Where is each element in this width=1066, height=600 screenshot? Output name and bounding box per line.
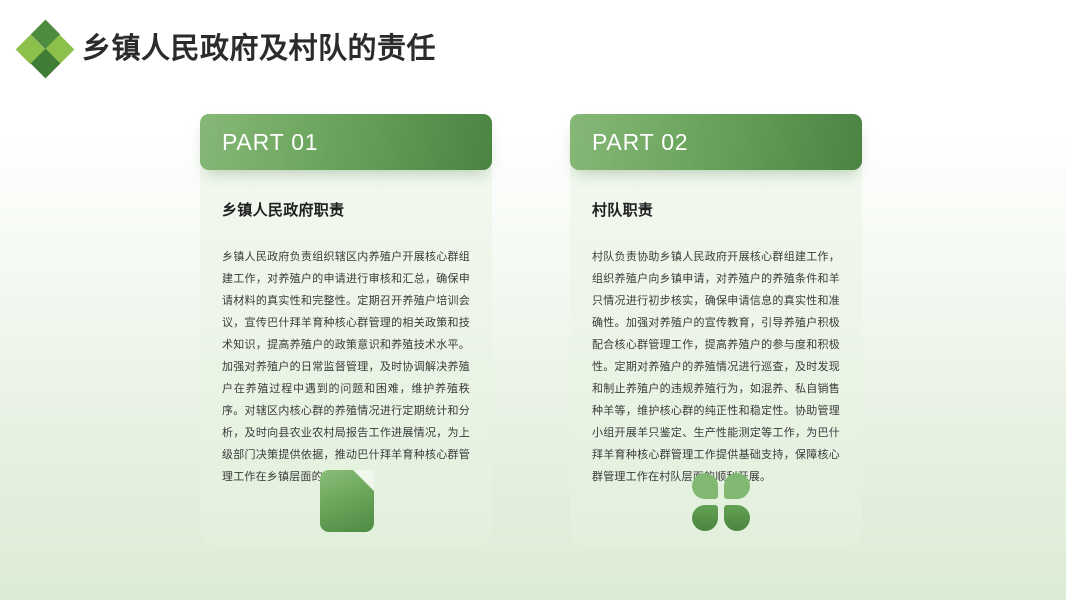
clover-four-petal-icon xyxy=(692,473,750,531)
content-columns: PART 01 乡镇人民政府职责 乡镇人民政府负责组织辖区内养殖户开展核心群组建… xyxy=(0,0,1066,600)
part-label-2: PART 02 xyxy=(592,131,688,154)
card-heading-2: 村队职责 xyxy=(592,202,846,220)
clover-petal-bottom-left xyxy=(692,505,718,531)
document-page-icon xyxy=(320,470,374,532)
clover-petal-top-left xyxy=(692,473,718,499)
part-banner-2: PART 02 xyxy=(570,114,862,170)
clover-petal-top-right xyxy=(724,473,750,499)
slide-canvas: 乡镇人民政府及村队的责任 PART 01 乡镇人民政府职责 乡镇人民政府负责组织… xyxy=(0,0,1066,600)
clover-petal-bottom-right xyxy=(724,505,750,531)
card-body-1: 乡镇人民政府负责组织辖区内养殖户开展核心群组建工作，对养殖户的申请进行审核和汇总… xyxy=(222,246,470,488)
card-body-text-1: 乡镇人民政府负责组织辖区内养殖户开展核心群组建工作，对养殖户的申请进行审核和汇总… xyxy=(222,246,470,488)
card-body-2: 村队负责协助乡镇人民政府开展核心群组建工作，组织养殖户向乡镇申请，对养殖户的养殖… xyxy=(592,246,840,488)
card-body-text-2: 村队负责协助乡镇人民政府开展核心群组建工作，组织养殖户向乡镇申请，对养殖户的养殖… xyxy=(592,246,840,488)
part-banner-1: PART 01 xyxy=(200,114,492,170)
part-label-1: PART 01 xyxy=(222,131,318,154)
card-heading-1: 乡镇人民政府职责 xyxy=(222,202,476,220)
